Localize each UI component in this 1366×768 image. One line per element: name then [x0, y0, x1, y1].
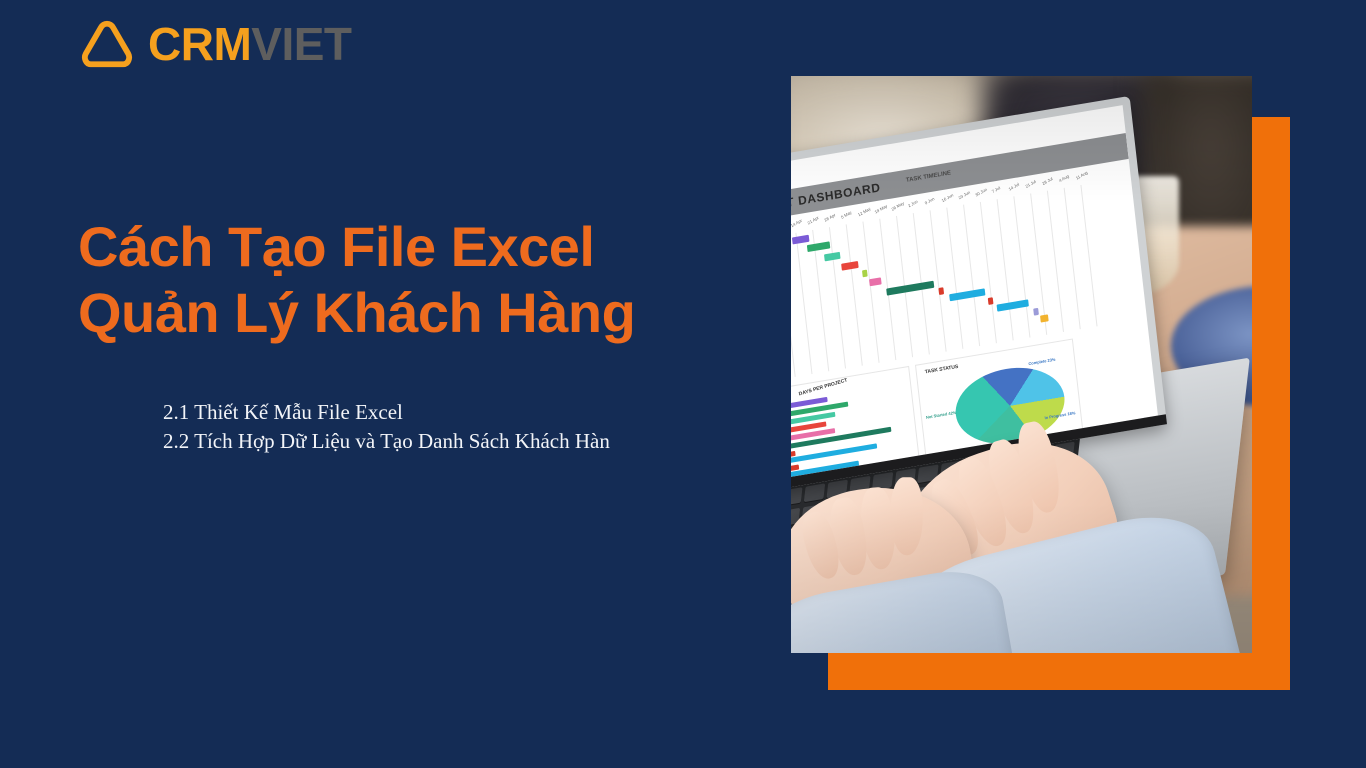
gantt-task-bar [886, 281, 934, 296]
gantt-tick-label: 7 Jul [991, 185, 1001, 194]
gantt-gridline [829, 227, 846, 368]
hands-typing-on-laptop-photo: MENT DASHBOARD TASK TIMELINE 14 Jan1 Apr… [791, 76, 1252, 653]
gantt-task-bar [988, 297, 994, 305]
gantt-task-bar [949, 288, 985, 301]
gantt-gridline [862, 221, 879, 362]
gantt-tick-label: 28 Apr [823, 212, 836, 222]
list-item: 2.2 Tích Hợp Dữ Liệu và Tạo Danh Sách Kh… [163, 427, 610, 456]
gantt-gridline [1080, 185, 1097, 326]
logo-text-crm: CRM [148, 21, 251, 67]
keyboard-key [791, 487, 803, 506]
gantt-gridline [963, 205, 980, 346]
gantt-task-bar [807, 241, 830, 252]
gantt-tick-label: 21 Jul [1025, 179, 1037, 189]
gantt-tick-label: 23 Jun [958, 190, 971, 201]
gantt-tick-label: 19 May [874, 203, 888, 214]
headline-line-2: Quản Lý Khách Hàng [78, 280, 635, 346]
gantt-gridline [791, 235, 796, 376]
gantt-task-bar [869, 277, 882, 286]
gantt-tick-label: 26 May [891, 200, 905, 211]
gantt-gridline [1013, 196, 1030, 337]
gantt-gridline [980, 202, 997, 343]
gantt-tick-label: 11 Aug [1075, 170, 1089, 181]
laptop-screen: MENT DASHBOARD TASK TIMELINE 14 Jan1 Apr… [791, 105, 1158, 479]
gantt-tick-label: 2 Jun [907, 199, 918, 208]
gantt-gridline [795, 233, 812, 374]
logo-text-viet: VIET [251, 21, 351, 67]
bar-chart-title: DAYS PER PROJECT [798, 377, 848, 397]
gantt-gridline [1047, 191, 1064, 332]
gantt-task-bar [997, 299, 1029, 311]
headline-line-1: Cách Tạo File Excel [78, 214, 635, 280]
slide-root: CRMVIET Cách Tạo File Excel Quản Lý Khác… [0, 0, 1366, 768]
laptop-lid: MENT DASHBOARD TASK TIMELINE 14 Jan1 Apr… [791, 96, 1167, 490]
horizontal-bar [791, 443, 877, 464]
gantt-task-bar [1040, 314, 1049, 322]
page-title: Cách Tạo File Excel Quản Lý Khách Hàng [78, 214, 635, 345]
gantt-tick-label: 14 Apr [791, 218, 803, 228]
gantt-tick-label: 28 Jul [1041, 176, 1053, 186]
pie-label: Complete 23% [1028, 357, 1056, 366]
list-item: 2.1 Thiết Kế Mẫu File Excel [163, 398, 610, 427]
gantt-task-bar [824, 252, 841, 262]
gantt-task-bar [841, 261, 859, 271]
brand-logo[interactable]: CRMVIET [78, 18, 352, 70]
pie-label: Not Started 42% [926, 410, 957, 420]
laptop: MENT DASHBOARD TASK TIMELINE 14 Jan1 Apr… [791, 128, 1252, 648]
gantt-tick-label: 21 Apr [807, 215, 820, 225]
keyboard-key [804, 483, 825, 502]
gantt-tick-label: 14 Jul [1008, 182, 1020, 192]
gantt-tick-label: 9 Jun [924, 196, 935, 205]
gantt-gridline [846, 224, 863, 365]
gantt-gridline [1064, 188, 1081, 329]
gantt-task-bar [862, 270, 868, 278]
gantt-task-bar [938, 287, 944, 295]
finger [891, 477, 923, 555]
gantt-tick-label: 5 May [840, 210, 852, 220]
gantt-task-bar [792, 235, 810, 245]
gantt-tick-label: 12 May [857, 206, 871, 217]
gantt-gridline [997, 199, 1014, 340]
logo-wordmark: CRMVIET [148, 21, 352, 67]
gantt-tick-label: 16 Jun [941, 192, 954, 203]
subtitle-list: 2.1 Thiết Kế Mẫu File Excel 2.2 Tích Hợp… [163, 398, 610, 457]
gantt-tick-label: 30 Jun [974, 187, 987, 198]
gantt-gridline [946, 207, 963, 348]
rounded-triangle-logo-icon [78, 18, 136, 70]
gantt-task-bar [1033, 308, 1039, 316]
gantt-gridline [812, 230, 829, 371]
pie-chart-title: TASK STATUS [925, 364, 959, 376]
gantt-tick-label: 4 Aug [1058, 173, 1070, 183]
